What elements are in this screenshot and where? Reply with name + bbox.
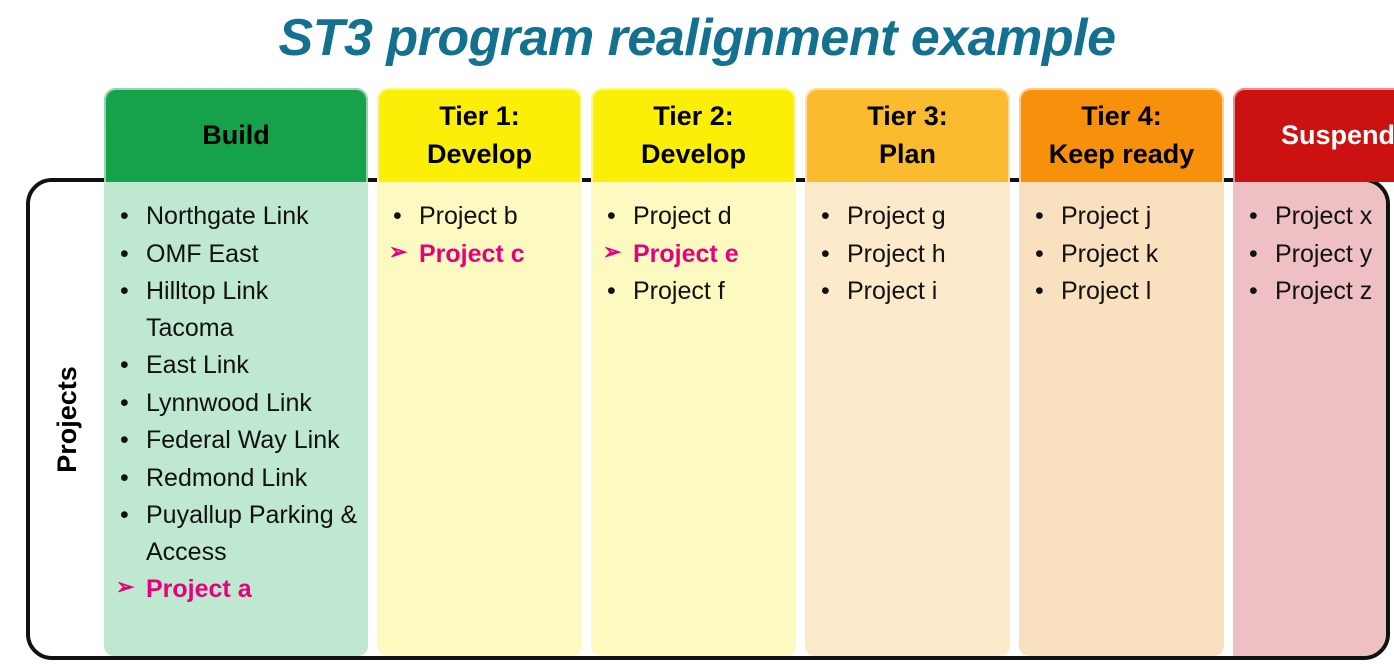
list-item-label: East Link (146, 351, 249, 379)
list-item-label: Project b (419, 202, 518, 230)
column-header-tier-1-develop[interactable]: Tier 1:Develop (377, 88, 582, 182)
column-header-label: Suspend (1281, 116, 1394, 154)
list-item[interactable]: •East Link (112, 347, 362, 384)
project-list-tier-1-develop: •Project b➢Project c (385, 198, 576, 272)
list-item[interactable]: •OMF East (112, 236, 362, 273)
dot-bullet-icon: • (120, 236, 129, 273)
column-header-label: Tier 2:Develop (641, 97, 746, 174)
list-item[interactable]: •Project z (1241, 273, 1390, 310)
list-item[interactable]: •Redmond Link (112, 460, 362, 497)
dot-bullet-icon: • (120, 198, 129, 235)
page-title: ST3 program realignment example (0, 6, 1394, 71)
dot-bullet-icon: • (1035, 273, 1044, 310)
dot-bullet-icon: • (1249, 273, 1258, 310)
column-header-tier-3-plan[interactable]: Tier 3:Plan (805, 88, 1010, 182)
list-item[interactable]: •Northgate Link (112, 198, 362, 235)
dot-bullet-icon: • (821, 273, 830, 310)
dot-bullet-icon: • (1035, 236, 1044, 273)
list-item-label: Project j (1061, 202, 1151, 230)
list-item[interactable]: •Project x (1241, 198, 1390, 235)
column-header-build[interactable]: Build (104, 88, 368, 182)
list-item[interactable]: ➢Project c (385, 236, 576, 273)
list-item[interactable]: ➢Project a (112, 571, 362, 608)
column-header-label: Tier 4:Keep ready (1049, 97, 1195, 174)
project-list-tier-4-keep-ready: •Project j•Project k•Project l (1027, 198, 1218, 310)
list-item[interactable]: •Project g (813, 198, 1004, 235)
list-item-label: Project l (1061, 277, 1151, 305)
dot-bullet-icon: • (607, 198, 616, 235)
dot-bullet-icon: • (120, 385, 129, 422)
dot-bullet-icon: • (120, 422, 129, 459)
list-item[interactable]: •Project f (599, 273, 790, 310)
list-item[interactable]: •Project y (1241, 236, 1390, 273)
projects-matrix: Projects •Northgate Link•OMF East•Hillto… (26, 178, 1390, 660)
list-item[interactable]: •Puyallup Parking & Access (112, 497, 362, 570)
dot-bullet-icon: • (821, 236, 830, 273)
column-header-row: BuildTier 1:DevelopTier 2:DevelopTier 3:… (104, 88, 1390, 182)
dot-bullet-icon: • (1249, 236, 1258, 273)
list-item[interactable]: •Project l (1027, 273, 1218, 310)
list-item[interactable]: •Federal Way Link (112, 422, 362, 459)
list-item-label: Project g (847, 202, 946, 230)
column-header-tier-4-keep-ready[interactable]: Tier 4:Keep ready (1019, 88, 1224, 182)
list-item[interactable]: ➢Project e (599, 236, 790, 273)
arrow-bullet-icon: ➢ (389, 236, 407, 268)
row-label-projects: Projects (30, 182, 104, 656)
column-body-tier-4-keep-ready: •Project j•Project k•Project l (1019, 182, 1224, 656)
list-item[interactable]: •Project j (1027, 198, 1218, 235)
list-item-label: Federal Way Link (146, 426, 340, 454)
list-item[interactable]: •Project d (599, 198, 790, 235)
list-item[interactable]: •Project i (813, 273, 1004, 310)
list-item-label: Project d (633, 202, 732, 230)
column-body-tier-1-develop: •Project b➢Project c (377, 182, 582, 656)
column-body-suspend: •Project x•Project y•Project z (1233, 182, 1390, 656)
project-list-tier-3-plan: •Project g•Project h•Project i (813, 198, 1004, 310)
column-body-tier-2-develop: •Project d➢Project e•Project f (591, 182, 796, 656)
column-header-label: Build (202, 116, 270, 154)
list-item-label: Puyallup Parking & Access (146, 501, 357, 566)
dot-bullet-icon: • (120, 460, 129, 497)
list-item-label: Project e (633, 240, 739, 268)
list-item-label: Project h (847, 240, 946, 268)
list-item[interactable]: •Lynnwood Link (112, 385, 362, 422)
column-header-label: Tier 1:Develop (427, 97, 532, 174)
column-header-label: Tier 3:Plan (867, 97, 948, 174)
list-item-label: Project i (847, 277, 937, 305)
dot-bullet-icon: • (1249, 198, 1258, 235)
list-item[interactable]: •Project b (385, 198, 576, 235)
list-item-label: Project y (1275, 240, 1372, 268)
list-item-label: Project k (1061, 240, 1158, 268)
list-item-label: Project z (1275, 277, 1372, 305)
list-item-label: OMF East (146, 240, 259, 268)
column-body-build: •Northgate Link•OMF East•Hilltop Link Ta… (104, 182, 368, 656)
dot-bullet-icon: • (120, 347, 129, 384)
dot-bullet-icon: • (120, 497, 129, 534)
dot-bullet-icon: • (1035, 198, 1044, 235)
list-item-label: Project a (146, 575, 252, 603)
dot-bullet-icon: • (607, 273, 616, 310)
list-item-label: Northgate Link (146, 202, 309, 230)
list-item[interactable]: •Project k (1027, 236, 1218, 273)
project-list-tier-2-develop: •Project d➢Project e•Project f (599, 198, 790, 310)
column-header-tier-2-develop[interactable]: Tier 2:Develop (591, 88, 796, 182)
list-item-label: Lynnwood Link (146, 389, 312, 417)
arrow-bullet-icon: ➢ (116, 571, 134, 603)
list-item-label: Redmond Link (146, 464, 307, 492)
arrow-bullet-icon: ➢ (603, 236, 621, 268)
dot-bullet-icon: • (393, 198, 402, 235)
list-item-label: Project f (633, 277, 725, 305)
project-list-suspend: •Project x•Project y•Project z (1241, 198, 1390, 310)
dot-bullet-icon: • (821, 198, 830, 235)
list-item[interactable]: •Hilltop Link Tacoma (112, 273, 362, 346)
list-item-label: Project c (419, 240, 525, 268)
list-item-label: Project x (1275, 202, 1372, 230)
row-label-projects-text: Projects (52, 366, 83, 473)
project-list-build: •Northgate Link•OMF East•Hilltop Link Ta… (112, 198, 362, 608)
list-item-label: Hilltop Link Tacoma (146, 277, 268, 342)
dot-bullet-icon: • (120, 273, 129, 310)
list-item[interactable]: •Project h (813, 236, 1004, 273)
column-body-tier-3-plan: •Project g•Project h•Project i (805, 182, 1010, 656)
column-header-suspend[interactable]: Suspend (1233, 88, 1394, 182)
column-body-row: •Northgate Link•OMF East•Hilltop Link Ta… (104, 182, 1386, 656)
